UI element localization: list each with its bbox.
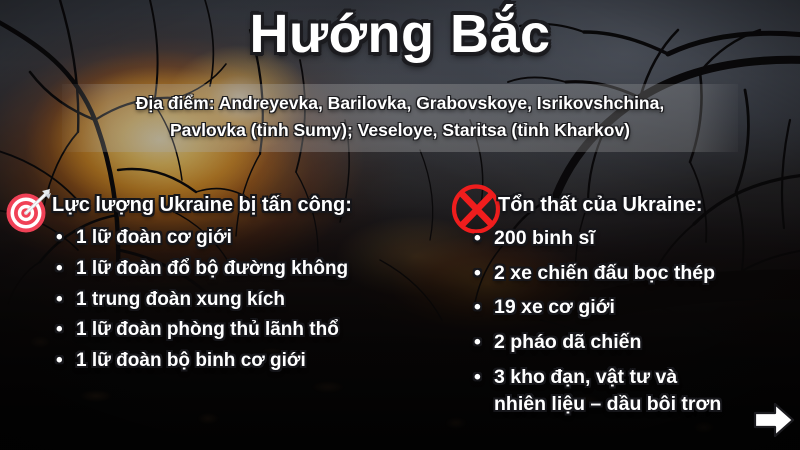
- subtitle-line-1: Địa điểm: Andreyevka, Barilovka, Grabovs…: [76, 90, 724, 117]
- page-title: Hướng Bắc: [0, 6, 800, 63]
- bullet-glyph: •: [474, 225, 481, 253]
- bullet-glyph: •: [474, 364, 481, 392]
- bullet-glyph: •: [56, 225, 63, 251]
- bullet-glyph: •: [474, 329, 481, 357]
- column-left: Lực lượng Ukraine bị tấn công: • 1 lữ đo…: [10, 194, 430, 379]
- bullet-glyph: •: [56, 256, 63, 282]
- column-right: Tổn thất của Ukraine: • 200 binh sĩ • 2 …: [452, 194, 800, 426]
- list-item: • 2 xe chiến đấu bọc thép: [452, 260, 800, 288]
- list-item: • 1 trung đoàn xung kích: [10, 287, 430, 313]
- infographic-slide: Hướng Bắc Địa điểm: Andreyevka, Barilovk…: [0, 0, 800, 450]
- list-item: • 1 lữ đoàn cơ giới: [10, 225, 430, 251]
- right-column-heading: Tổn thất của Ukraine:: [452, 194, 800, 216]
- list-item-label: 3 kho đạn, vật tư và: [494, 366, 677, 388]
- subtitle-line-2: Pavlovka (tỉnh Sumy); Veseloye, Staritsa…: [76, 117, 724, 144]
- list-item: • 19 xe cơ giới: [452, 294, 800, 322]
- left-column-heading: Lực lượng Ukraine bị tấn công:: [10, 194, 430, 216]
- list-item-label: 2 xe chiến đấu bọc thép: [494, 262, 715, 284]
- list-item-label: 1 lữ đoàn cơ giới: [76, 227, 232, 248]
- list-item-label: 1 lữ đoàn đổ bộ đường không: [76, 258, 348, 279]
- list-item: • 200 binh sĩ: [452, 225, 800, 253]
- list-item-label: 1 lữ đoàn phòng thủ lãnh thổ: [76, 319, 339, 340]
- bullet-glyph: •: [56, 287, 63, 313]
- bullet-glyph: •: [56, 348, 63, 374]
- right-column-list: • 200 binh sĩ • 2 xe chiến đấu bọc thép …: [452, 225, 800, 419]
- arrow-right-icon[interactable]: [752, 400, 796, 440]
- list-item-label: 200 binh sĩ: [494, 227, 595, 249]
- list-item: • 2 pháo dã chiến: [452, 329, 800, 357]
- bullet-glyph: •: [474, 294, 481, 322]
- list-item: • 1 lữ đoàn bộ binh cơ giới: [10, 348, 430, 374]
- left-column-list: • 1 lữ đoàn cơ giới • 1 lữ đoàn đổ bộ đư…: [10, 225, 430, 374]
- list-item: • 1 lữ đoàn đổ bộ đường không: [10, 256, 430, 282]
- list-item-label: 1 lữ đoàn bộ binh cơ giới: [76, 350, 306, 371]
- bullet-glyph: •: [474, 260, 481, 288]
- bullet-glyph: •: [56, 317, 63, 343]
- list-item: • 3 kho đạn, vật tư và nhiên liệu – dầu …: [452, 364, 800, 419]
- list-item-label: 19 xe cơ giới: [494, 296, 615, 318]
- list-item-label: 2 pháo dã chiến: [494, 331, 641, 353]
- list-item-label: 1 trung đoàn xung kích: [76, 289, 285, 310]
- location-subtitle: Địa điểm: Andreyevka, Barilovka, Grabovs…: [62, 84, 738, 152]
- list-item: • 1 lữ đoàn phòng thủ lãnh thổ: [10, 317, 430, 343]
